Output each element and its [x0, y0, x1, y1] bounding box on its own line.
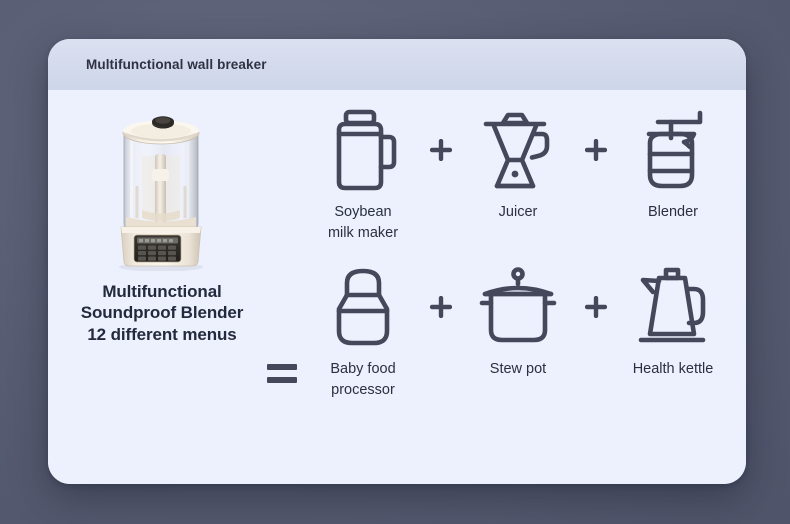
appliance-label: Blender [648, 202, 698, 223]
appliance-label: Health kettle [633, 359, 714, 380]
card-body: Multifunctional Soundproof Blender 12 di… [48, 90, 746, 484]
appliance-health-kettle: Health kettle [614, 259, 732, 380]
plus-icon [577, 102, 614, 198]
card-header: Multifunctional wall breaker [48, 39, 746, 90]
plus-icon [422, 259, 459, 355]
page-background: Multifunctional wall breaker [0, 0, 790, 524]
appliance-label: Soybean milk maker [328, 202, 398, 243]
product-caption: Multifunctional Soundproof Blender 12 di… [81, 281, 244, 345]
appliance-row-2: Baby food processor [304, 259, 732, 400]
product-caption-line-1: Multifunctional [81, 281, 244, 302]
card-title: Multifunctional wall breaker [86, 57, 267, 72]
appliance-stew-pot: Stew pot [459, 259, 577, 380]
appliance-label-line-2: milk maker [328, 223, 398, 244]
equals-bar-bottom [267, 377, 297, 383]
appliance-label-line-1: Juicer [499, 202, 538, 223]
appliance-label: Stew pot [490, 359, 546, 380]
appliance-label-line-2: processor [330, 380, 395, 401]
appliance-label-line-1: Blender [648, 202, 698, 223]
blender-product-image [97, 96, 227, 271]
plus-icon [422, 102, 459, 198]
appliance-soybean-milk-maker: Soybean milk maker [304, 102, 422, 243]
equals-sign [267, 364, 297, 386]
electric-kettle-icon [633, 259, 713, 355]
appliance-label-line-1: Stew pot [490, 359, 546, 380]
stew-pot-icon [478, 259, 558, 355]
appliance-juicer: Juicer [459, 102, 577, 223]
appliance-row-1: Soybean milk maker [304, 102, 732, 243]
appliance-label: Baby food processor [330, 359, 395, 400]
grinder-jar-icon [636, 102, 710, 198]
appliance-label: Juicer [499, 202, 538, 223]
plus-icon [577, 259, 614, 355]
appliance-grid: Soybean milk maker [304, 102, 732, 400]
juicer-blender-jar-icon [480, 102, 556, 198]
product-feature-card: Multifunctional wall breaker [48, 39, 746, 484]
appliance-label-line-1: Baby food [330, 359, 395, 380]
product-block: Multifunctional Soundproof Blender 12 di… [62, 96, 262, 345]
appliance-label-line-1: Health kettle [633, 359, 714, 380]
product-caption-line-2: Soundproof Blender [81, 302, 244, 323]
thermos-flask-icon [326, 102, 400, 198]
blender-illustration [97, 96, 227, 271]
appliance-blender: Blender [614, 102, 732, 223]
appliance-label-line-1: Soybean [328, 202, 398, 223]
equals-bar-top [267, 364, 297, 370]
product-caption-line-3: 12 different menus [81, 324, 244, 345]
appliance-baby-food-processor: Baby food processor [304, 259, 422, 400]
baby-food-canister-icon [326, 259, 400, 355]
